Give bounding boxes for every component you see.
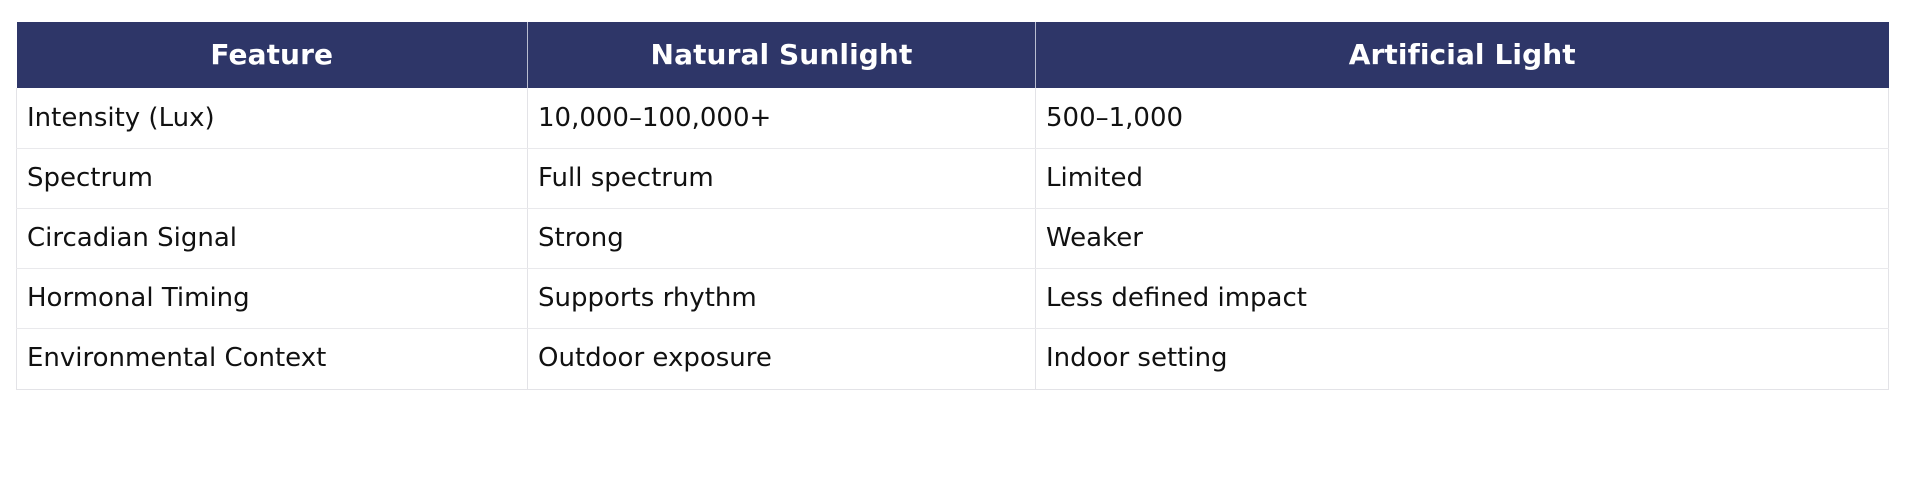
cell-natural: 10,000–100,000+ bbox=[528, 88, 1036, 148]
table-row: Spectrum Full spectrum Limited bbox=[17, 148, 1889, 208]
table-row: Circadian Signal Strong Weaker bbox=[17, 209, 1889, 269]
cell-feature: Hormonal Timing bbox=[17, 269, 528, 329]
table-header: Feature Natural Sunlight Artificial Ligh… bbox=[17, 22, 1889, 88]
column-header-natural-sunlight: Natural Sunlight bbox=[528, 22, 1036, 88]
cell-artificial: Indoor setting bbox=[1036, 329, 1889, 389]
light-comparison-table: Feature Natural Sunlight Artificial Ligh… bbox=[16, 22, 1889, 390]
cell-feature: Circadian Signal bbox=[17, 209, 528, 269]
cell-artificial: Less defined impact bbox=[1036, 269, 1889, 329]
comparison-table-container: Feature Natural Sunlight Artificial Ligh… bbox=[16, 22, 1888, 390]
cell-artificial: Limited bbox=[1036, 148, 1889, 208]
cell-artificial: 500–1,000 bbox=[1036, 88, 1889, 148]
cell-natural: Outdoor exposure bbox=[528, 329, 1036, 389]
column-header-artificial-light: Artificial Light bbox=[1036, 22, 1889, 88]
cell-natural: Supports rhythm bbox=[528, 269, 1036, 329]
column-header-feature: Feature bbox=[17, 22, 528, 88]
table-row: Environmental Context Outdoor exposure I… bbox=[17, 329, 1889, 389]
table-row: Intensity (Lux) 10,000–100,000+ 500–1,00… bbox=[17, 88, 1889, 148]
cell-natural: Full spectrum bbox=[528, 148, 1036, 208]
table-row: Hormonal Timing Supports rhythm Less def… bbox=[17, 269, 1889, 329]
cell-feature: Environmental Context bbox=[17, 329, 528, 389]
cell-feature: Spectrum bbox=[17, 148, 528, 208]
header-row: Feature Natural Sunlight Artificial Ligh… bbox=[17, 22, 1889, 88]
table-body: Intensity (Lux) 10,000–100,000+ 500–1,00… bbox=[17, 88, 1889, 389]
cell-natural: Strong bbox=[528, 209, 1036, 269]
cell-feature: Intensity (Lux) bbox=[17, 88, 528, 148]
page-root: Feature Natural Sunlight Artificial Ligh… bbox=[0, 0, 1907, 488]
cell-artificial: Weaker bbox=[1036, 209, 1889, 269]
